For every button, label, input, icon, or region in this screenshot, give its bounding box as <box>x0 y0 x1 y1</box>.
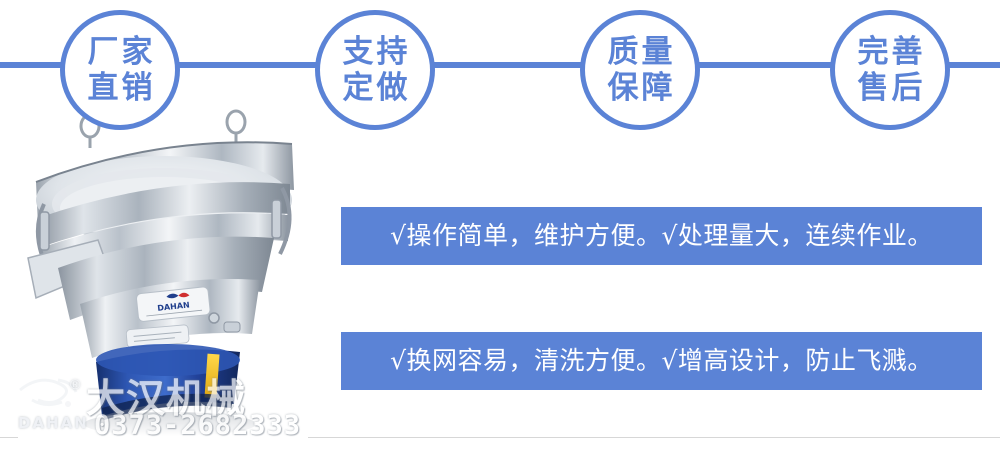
connector-line <box>178 62 318 68</box>
feature-strip: 厂家 直销 支持 定做 质量 保障 完善 售后 <box>0 0 1000 140</box>
feature-badge-line2: 直销 <box>85 70 156 106</box>
feature-badge-line1: 厂家 <box>85 34 156 70</box>
feature-bullet-bar-2: √换网容易，清洗方便。√增高设计，防止飞溅。 <box>341 332 982 390</box>
feature-badge-line2: 保障 <box>605 70 676 106</box>
feature-badge-after-sales[interactable]: 完善 售后 <box>830 10 950 130</box>
feature-badge-line2: 定做 <box>340 70 411 106</box>
connector-line <box>948 62 1000 68</box>
feature-badge-line1: 完善 <box>855 34 926 70</box>
feature-badge-line2: 售后 <box>855 70 926 106</box>
connector-line <box>432 62 582 68</box>
promo-banner: 厂家 直销 支持 定做 质量 保障 完善 售后 <box>0 0 1000 461</box>
feature-badge-quality[interactable]: 质量 保障 <box>580 10 700 130</box>
feature-badge-custom-made[interactable]: 支持 定做 <box>315 10 435 130</box>
side-knob <box>209 313 219 323</box>
feature-badge-line1: 支持 <box>340 34 411 70</box>
vibrating-sieve-illustration: DAHAN <box>18 108 308 443</box>
clamp-block-right <box>272 200 281 238</box>
feature-badge-direct-sales[interactable]: 厂家 直销 <box>60 10 180 130</box>
clamp-block-left <box>40 212 49 250</box>
feature-bullet-bar-1: √操作简单，维护方便。√处理量大，连续作业。 <box>341 207 982 265</box>
feature-bullet-text: √换网容易，清洗方便。√增高设计，防止飞溅。 <box>390 346 933 376</box>
product-photo: DAHAN <box>18 108 308 443</box>
feature-bullet-text: √操作简单，维护方便。√处理量大，连续作业。 <box>390 221 933 251</box>
feature-badge-line1: 质量 <box>605 34 676 70</box>
connector-line <box>697 62 832 68</box>
